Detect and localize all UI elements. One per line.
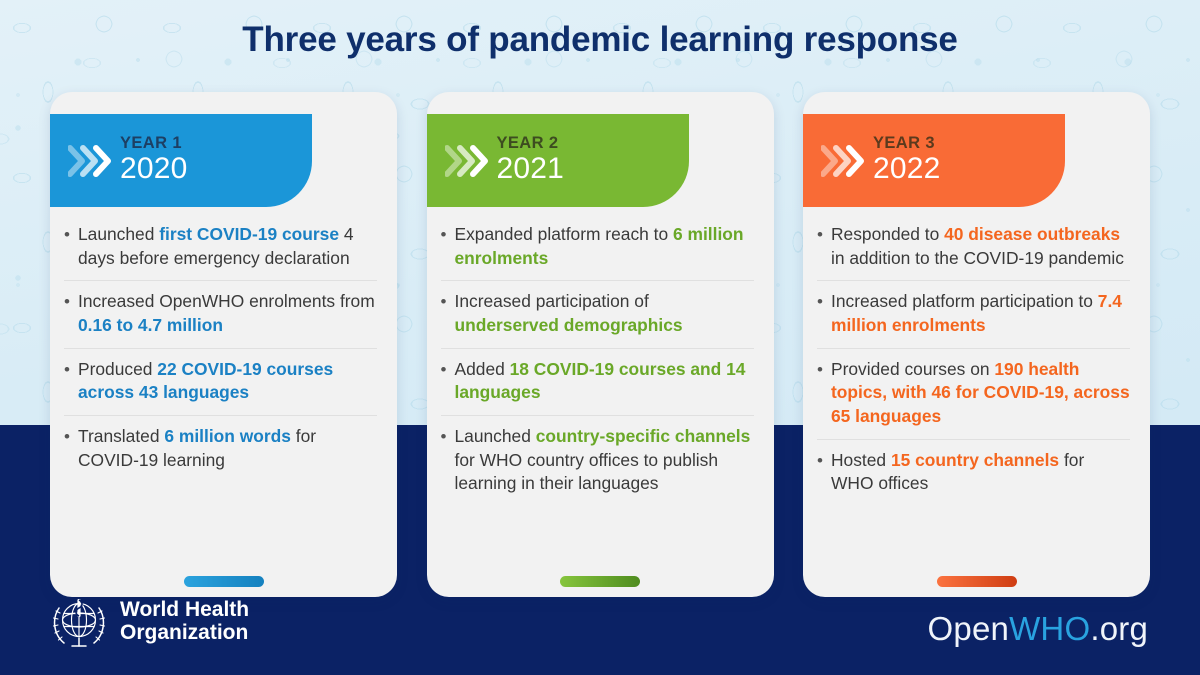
fact-text: Launched country-specific channels for W… [455, 425, 754, 496]
bullet-icon: • [64, 358, 78, 405]
page-title: Three years of pandemic learning respons… [0, 20, 1200, 60]
card-body-2021: •Expanded platform reach to 6 million en… [427, 207, 774, 597]
card-accent-bar [560, 576, 640, 587]
fact-item: •Launched first COVID-19 course 4 days b… [64, 221, 377, 280]
year-number: 2022 [873, 154, 941, 184]
year-card-2021[interactable]: YEAR 2 2021 •Expanded platform reach to … [427, 92, 774, 597]
bullet-icon: • [64, 425, 78, 472]
fact-item: •Added 18 COVID-19 courses and 14 langua… [441, 348, 754, 415]
triple-chevron-right-icon [445, 141, 489, 181]
infographic-stage: Three years of pandemic learning respons… [0, 0, 1200, 675]
fact-text: Increased platform participation to 7.4 … [831, 290, 1130, 337]
bullet-icon: • [817, 290, 831, 337]
fact-text: Increased participation of underserved d… [455, 290, 754, 337]
fact-text: Increased OpenWHO enrolments from 0.16 t… [78, 290, 377, 337]
year-number: 2020 [120, 154, 188, 184]
openwho-brand[interactable]: OpenWHO.org [928, 610, 1148, 648]
triple-chevron-right-icon [68, 141, 112, 181]
bullet-icon: • [441, 425, 455, 496]
brand-who: WHO [1009, 610, 1090, 647]
bullet-icon: • [441, 290, 455, 337]
year-number: 2021 [497, 154, 565, 184]
fact-text: Expanded platform reach to 6 million enr… [455, 223, 754, 270]
fact-text: Launched first COVID-19 course 4 days be… [78, 223, 377, 270]
fact-list: •Expanded platform reach to 6 million en… [441, 221, 754, 506]
fact-item: •Translated 6 million words for COVID-19… [64, 415, 377, 482]
who-name: World Health Organization [120, 599, 249, 644]
brand-suffix: .org [1090, 610, 1148, 647]
who-name-line1: World Health [120, 599, 249, 622]
fact-text: Responded to 40 disease outbreaks in add… [831, 223, 1130, 270]
card-body-2022: •Responded to 40 disease outbreaks in ad… [803, 207, 1150, 597]
bullet-icon: • [817, 358, 831, 429]
fact-item: •Produced 22 COVID-19 courses across 43 … [64, 348, 377, 415]
card-accent-bar [184, 576, 264, 587]
bullet-icon: • [64, 223, 78, 270]
fact-text: Provided courses on 190 health topics, w… [831, 358, 1130, 429]
fact-item: •Increased participation of underserved … [441, 280, 754, 347]
bullet-icon: • [441, 223, 455, 270]
fact-item: •Provided courses on 190 health topics, … [817, 348, 1130, 439]
bullet-icon: • [817, 223, 831, 270]
card-header-2022: YEAR 3 2022 [803, 114, 1065, 207]
fact-item: •Increased platform participation to 7.4… [817, 280, 1130, 347]
year-label: YEAR 3 [873, 135, 941, 152]
who-logo: World Health Organization [48, 591, 249, 653]
who-emblem-icon [48, 591, 110, 653]
fact-list: •Launched first COVID-19 course 4 days b… [64, 221, 377, 482]
year-label: YEAR 2 [497, 135, 565, 152]
year-card-2020[interactable]: YEAR 1 2020 •Launched first COVID-19 cou… [50, 92, 397, 597]
fact-item: •Hosted 15 country channels for WHO offi… [817, 439, 1130, 506]
card-body-2020: •Launched first COVID-19 course 4 days b… [50, 207, 397, 597]
bullet-icon: • [817, 449, 831, 496]
fact-item: •Launched country-specific channels for … [441, 415, 754, 506]
bullet-icon: • [64, 290, 78, 337]
card-header-2020: YEAR 1 2020 [50, 114, 312, 207]
fact-list: •Responded to 40 disease outbreaks in ad… [817, 221, 1130, 506]
fact-text: Hosted 15 country channels for WHO offic… [831, 449, 1130, 496]
fact-text: Produced 22 COVID-19 courses across 43 l… [78, 358, 377, 405]
year-cards-container: YEAR 1 2020 •Launched first COVID-19 cou… [50, 92, 1150, 597]
fact-text: Translated 6 million words for COVID-19 … [78, 425, 377, 472]
card-header-2021: YEAR 2 2021 [427, 114, 689, 207]
fact-text: Added 18 COVID-19 courses and 14 languag… [455, 358, 754, 405]
fact-item: •Expanded platform reach to 6 million en… [441, 221, 754, 280]
year-card-2022[interactable]: YEAR 3 2022 •Responded to 40 disease out… [803, 92, 1150, 597]
card-accent-bar [937, 576, 1017, 587]
bullet-icon: • [441, 358, 455, 405]
year-label: YEAR 1 [120, 135, 188, 152]
triple-chevron-right-icon [821, 141, 865, 181]
fact-item: •Increased OpenWHO enrolments from 0.16 … [64, 280, 377, 347]
who-name-line2: Organization [120, 622, 249, 645]
fact-item: •Responded to 40 disease outbreaks in ad… [817, 221, 1130, 280]
brand-prefix: Open [928, 610, 1010, 647]
